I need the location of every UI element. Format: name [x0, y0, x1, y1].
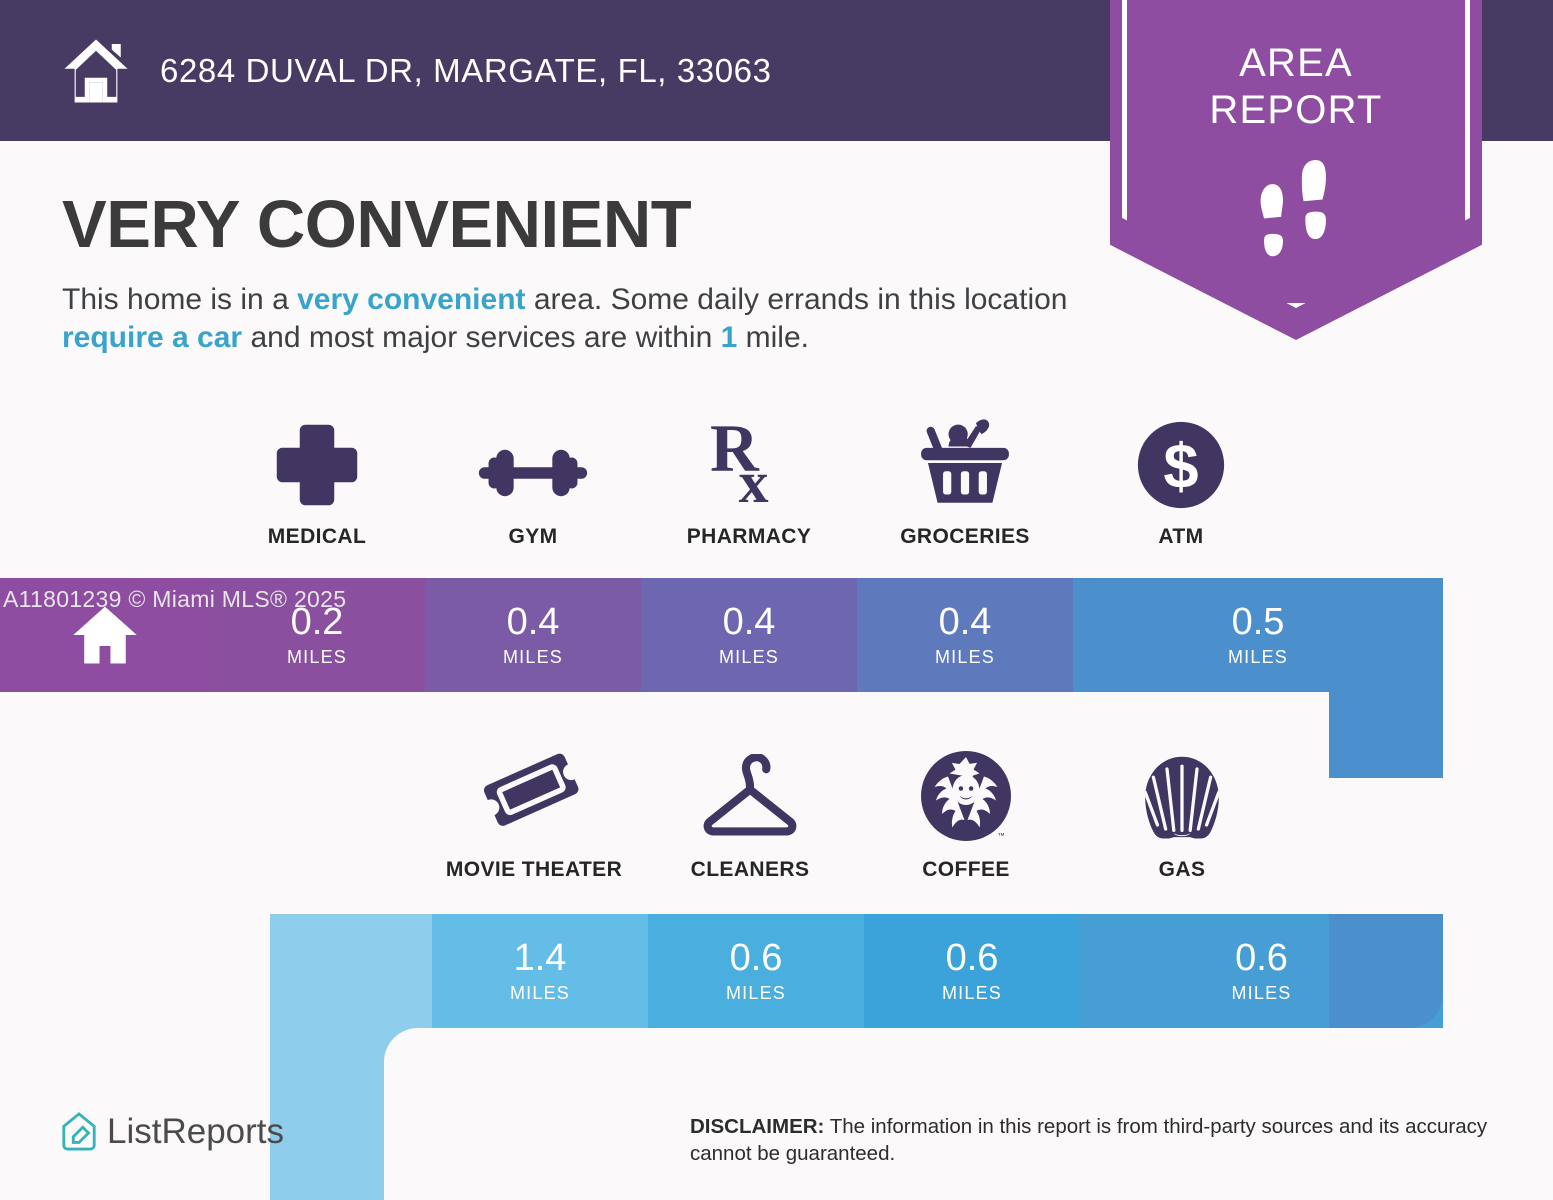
poi-cleaners: CLEANERS [642, 748, 858, 882]
bar-corner-right-top [1329, 578, 1443, 778]
distance-value: 0.4 [507, 603, 560, 641]
header-content: 6284 DUVAL DR, MARGATE, FL, 33063 [0, 0, 1110, 141]
mls-watermark: A11801239 © Miami MLS® 2025 [3, 586, 346, 613]
badge-line-2: REPORT [1110, 87, 1482, 134]
page-title: VERY CONVENIENT [62, 186, 691, 263]
area-report-page: 6284 DUVAL DR, MARGATE, FL, 33063 AREA R… [0, 0, 1553, 1200]
distance-bar-secondary: 1.4 MILES 0.6 MILES 0.6 MILES 0.6 MILES [270, 914, 1443, 1028]
rx-icon: R x [710, 415, 788, 511]
dollar-circle-icon: $ [1135, 415, 1227, 511]
distance-value: 0.4 [939, 603, 992, 641]
distance-segment: 1.4 MILES [432, 914, 648, 1028]
listreports-logo: ListReports [60, 1111, 284, 1153]
distance-value: 0.4 [723, 603, 776, 641]
badge-line-1: AREA [1110, 40, 1482, 87]
poi-pharmacy: R x PHARMACY [641, 415, 857, 549]
summary-part-4: mile. [737, 321, 809, 354]
distance-unit: MILES [935, 647, 995, 668]
medical-cross-icon [271, 415, 363, 511]
distance-segment: 0.4 MILES [425, 578, 641, 692]
starbucks-siren-icon: ™ [918, 748, 1014, 844]
summary-highlight-2: require a car [62, 321, 242, 354]
poi-label: GAS [1159, 858, 1206, 882]
distance-segment: 0.4 MILES [641, 578, 857, 692]
poi-label: ATM [1158, 525, 1203, 549]
poi-atm: $ ATM [1073, 415, 1289, 549]
listreports-logo-text: ListReports [107, 1112, 284, 1152]
bar-corner-right-bottom [1329, 914, 1443, 1028]
distance-unit: MILES [287, 647, 347, 668]
poi-movie-theater: MOVIE THEATER [426, 748, 642, 882]
distance-value: 0.5 [1232, 603, 1285, 641]
shell-logo-icon [1134, 748, 1230, 844]
svg-text:$: $ [1163, 432, 1198, 502]
movie-ticket-icon [484, 748, 584, 844]
distance-value: 1.4 [514, 939, 567, 977]
distance-segment: 0.4 MILES [857, 578, 1073, 692]
distance-unit: MILES [942, 983, 1002, 1004]
poi-label: CLEANERS [691, 858, 810, 882]
footprints-icon [1243, 160, 1347, 270]
distance-lead-segment [270, 914, 432, 1028]
summary-highlight-1: very convenient [297, 283, 525, 316]
home-icon [58, 35, 134, 107]
distance-value: 0.6 [730, 939, 783, 977]
distance-unit: MILES [510, 983, 570, 1004]
poi-coffee: ™ COFFEE [858, 748, 1074, 882]
distance-segment: 0.6 MILES [864, 914, 1080, 1028]
summary-highlight-3: 1 [721, 321, 738, 354]
distance-unit: MILES [726, 983, 786, 1004]
property-address: 6284 DUVAL DR, MARGATE, FL, 33063 [160, 52, 772, 90]
distance-value: 0.6 [946, 939, 999, 977]
bar-notch-left [384, 1028, 584, 1200]
poi-gym: GYM [425, 415, 641, 549]
poi-groceries: GROCERIES [857, 415, 1073, 549]
poi-label: MOVIE THEATER [446, 858, 622, 882]
poi-medical: MEDICAL [209, 415, 425, 549]
poi-label: MEDICAL [268, 525, 366, 549]
poi-gas: GAS [1074, 748, 1290, 882]
svg-text:x: x [739, 449, 769, 511]
grocery-basket-icon [915, 415, 1015, 511]
disclaimer: DISCLAIMER: The information in this repo… [690, 1113, 1500, 1167]
poi-label: PHARMACY [687, 525, 812, 549]
poi-label: GYM [508, 525, 557, 549]
poi-label: COFFEE [922, 858, 1010, 882]
distance-unit: MILES [1228, 647, 1288, 668]
poi-label: GROCERIES [900, 525, 1030, 549]
distance-unit: MILES [719, 647, 779, 668]
summary-text: This home is in a very convenient area. … [62, 281, 1102, 356]
distance-segment: 0.6 MILES [648, 914, 864, 1028]
distance-unit: MILES [503, 647, 563, 668]
summary-part-3: and most major services are within [242, 321, 721, 354]
summary-part-2: area. Some daily errands in this locatio… [526, 283, 1068, 316]
badge-label: AREA REPORT [1110, 40, 1482, 134]
poi-icon-row-secondary: MOVIE THEATER CLEANERS [426, 748, 1290, 882]
dumbbell-icon [475, 415, 591, 511]
disclaimer-label: DISCLAIMER: [690, 1115, 824, 1138]
summary-part-1: This home is in a [62, 283, 297, 316]
svg-text:™: ™ [998, 831, 1006, 840]
clothes-hanger-icon [696, 748, 804, 844]
listreports-logo-icon [60, 1111, 98, 1153]
distance-unit: MILES [1231, 983, 1291, 1004]
poi-icon-row-primary: MEDICAL GYM R x [209, 415, 1289, 549]
distance-value: 0.6 [1235, 939, 1288, 977]
